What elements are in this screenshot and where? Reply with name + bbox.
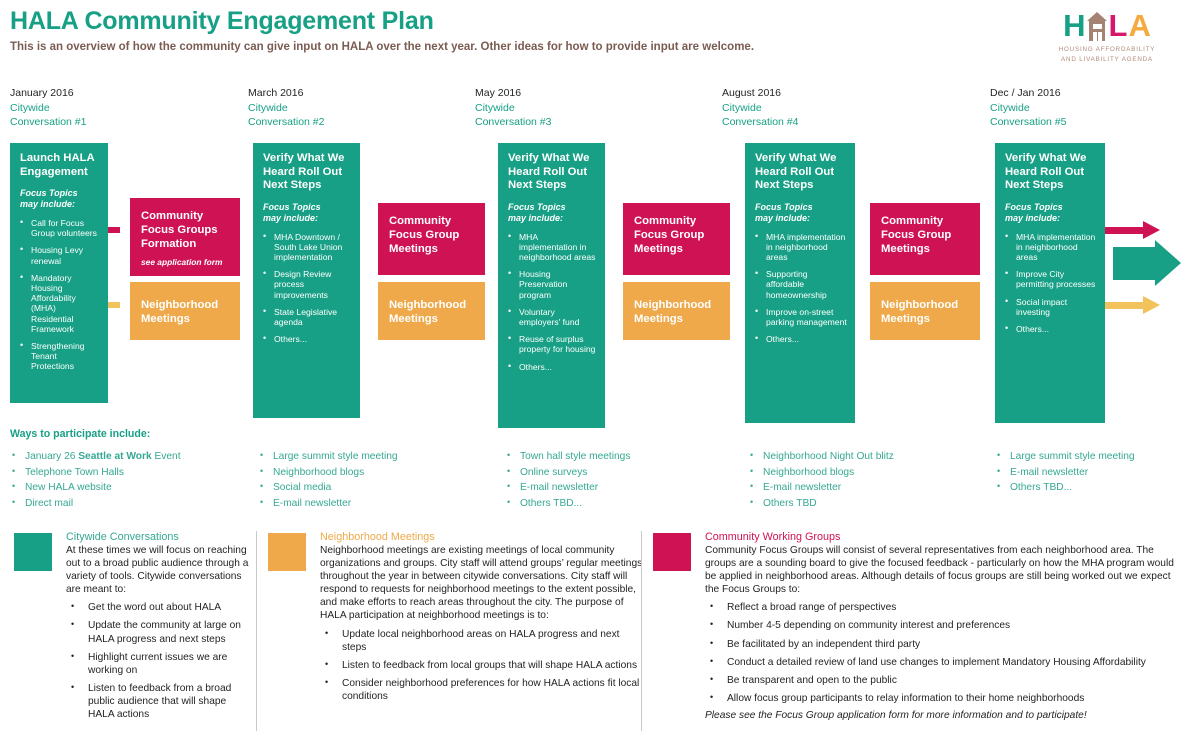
column-month-label: May 2016 bbox=[475, 86, 551, 101]
ways-list-item: E-mail newsletter bbox=[995, 465, 1135, 481]
focus-topics-label-line2: may include: bbox=[755, 213, 847, 224]
logo-letter-l: L bbox=[1109, 10, 1128, 41]
focus-topic-item: Housing Levy renewal bbox=[20, 245, 100, 265]
column-citywide-line2: Conversation #2 bbox=[248, 115, 324, 130]
focus-topic-item: Others... bbox=[263, 334, 352, 344]
focus-topic-item: Reuse of surplus property for housing bbox=[508, 334, 597, 354]
column-header-4: August 2016CitywideConversation #4 bbox=[722, 86, 798, 130]
focus-topics-label: Focus Topicsmay include: bbox=[755, 202, 847, 224]
ways-list-item: Neighborhood blogs bbox=[748, 465, 894, 481]
ways-list-item: New HALA website bbox=[10, 480, 181, 496]
house-icon bbox=[1087, 12, 1108, 41]
focus-topic-item: Others... bbox=[508, 362, 597, 372]
logo-tagline-line2: AND LIVABILITY AGENDA bbox=[1048, 55, 1166, 65]
neighborhood-meetings-card-2[interactable]: Neighborhood Meetings bbox=[378, 282, 485, 340]
logo-tagline-line1: HOUSING AFFORDABILITY bbox=[1048, 45, 1166, 55]
focus-topics-label: Focus Topicsmay include: bbox=[263, 202, 352, 224]
arrow-orange-stem bbox=[1105, 302, 1143, 309]
column-citywide-line2: Conversation #3 bbox=[475, 115, 551, 130]
ways-list: Large summit style meetingNeighborhood b… bbox=[258, 449, 398, 511]
card-title: Community Focus Group Meetings bbox=[389, 214, 476, 256]
legend-paragraph: Neighborhood meetings are existing meeti… bbox=[320, 544, 643, 623]
legend-bullet-item: Highlight current issues we are working … bbox=[66, 651, 254, 677]
card-title: Launch HALA Engagement bbox=[20, 152, 100, 179]
page-title: HALA Community Engagement Plan bbox=[10, 8, 754, 36]
community-focus-group-card-2[interactable]: Community Focus Group Meetings bbox=[378, 203, 485, 275]
focus-topic-item: MHA Downtown / South Lake Union implemen… bbox=[263, 232, 352, 263]
logo-tagline: HOUSING AFFORDABILITY AND LIVABILITY AGE… bbox=[1048, 45, 1166, 64]
card-title: Neighborhood Meetings bbox=[881, 298, 971, 326]
card-title: Neighborhood Meetings bbox=[141, 298, 231, 326]
card-title: Neighborhood Meetings bbox=[634, 298, 721, 326]
legend-body: Neighborhood MeetingsNeighborhood meetin… bbox=[320, 531, 643, 703]
citywide-conversation-card-4[interactable]: Verify What We Heard Roll Out Next Steps… bbox=[745, 143, 855, 423]
ways-list-item: E-mail newsletter bbox=[258, 496, 398, 512]
logo-wordmark: H L A bbox=[1048, 10, 1166, 41]
focus-topics-list: MHA implementation in neighborhood areas… bbox=[508, 232, 597, 372]
focus-topics-label-line1: Focus Topics bbox=[263, 202, 352, 213]
legend-bullet-item: Update local neighborhood areas on HALA … bbox=[320, 628, 643, 654]
legend-bullet-item: Conduct a detailed review of land use ch… bbox=[705, 656, 1178, 669]
focus-topics-label: Focus Topicsmay include: bbox=[20, 188, 100, 210]
legend-bullet-item: Get the word out about HALA bbox=[66, 601, 254, 614]
focus-topics-list: Call for Focus Group volunteersHousing L… bbox=[20, 218, 100, 372]
column-citywide-line2: Conversation #1 bbox=[10, 115, 86, 130]
ways-list: January 26 Seattle at Work EventTelephon… bbox=[10, 449, 181, 511]
focus-topic-item: Improve on-street parking management bbox=[755, 307, 847, 327]
neighborhood-meetings-card-4[interactable]: Neighborhood Meetings bbox=[870, 282, 980, 340]
focus-topic-item: Strengthening Tenant Protections bbox=[20, 341, 100, 372]
neighborhood-meetings-card-1[interactable]: Neighborhood Meetings bbox=[130, 282, 240, 340]
page-header: HALA Community Engagement Plan This is a… bbox=[10, 8, 754, 53]
legend-bullet-item: Be transparent and open to the public bbox=[705, 674, 1178, 687]
legend-bullet-item: Update the community at large on HALA pr… bbox=[66, 619, 254, 645]
connector-pink-1 bbox=[108, 227, 120, 233]
ways-list-item: Others TBD... bbox=[505, 496, 630, 512]
legend-bullet-item: Allow focus group participants to relay … bbox=[705, 692, 1178, 705]
focus-topic-item: Voluntary employers' fund bbox=[508, 307, 597, 327]
focus-topic-item: Mandatory Housing Affordability (MHA) Re… bbox=[20, 273, 100, 334]
column-month-label: Dec / Jan 2016 bbox=[990, 86, 1066, 101]
legend-divider-1 bbox=[256, 531, 257, 731]
legend-body: Citywide ConversationsAt these times we … bbox=[66, 531, 254, 721]
legend-bullet-list: Update local neighborhood areas on HALA … bbox=[320, 628, 643, 703]
legend-item-neighborhood-meetings: Neighborhood MeetingsNeighborhood meetin… bbox=[268, 531, 643, 708]
community-focus-group-card-3[interactable]: Community Focus Group Meetings bbox=[623, 203, 730, 275]
legend-paragraph: At these times we will focus on reaching… bbox=[66, 544, 254, 596]
ways-to-participate-list-4: Neighborhood Night Out blitzNeighborhood… bbox=[748, 449, 894, 511]
focus-topic-item: MHA implementation in neighborhood areas bbox=[755, 232, 847, 263]
focus-topic-item: State Legislative agenda bbox=[263, 307, 352, 327]
community-focus-group-card-4[interactable]: Community Focus Group Meetings bbox=[870, 203, 980, 275]
legend-paragraph: Community Focus Groups will consist of s… bbox=[705, 544, 1178, 596]
ways-to-participate-list-1: January 26 Seattle at Work EventTelephon… bbox=[10, 449, 181, 511]
focus-topic-item: Social impact investing bbox=[1005, 297, 1097, 317]
column-citywide-line2: Conversation #4 bbox=[722, 115, 798, 130]
arrow-orange-head bbox=[1143, 296, 1160, 314]
ways-list-item: Neighborhood blogs bbox=[258, 465, 398, 481]
focus-topics-list: MHA implementation in neighborhood areas… bbox=[1005, 232, 1097, 335]
ways-list-item: Social media bbox=[258, 480, 398, 496]
card-title: Verify What We Heard Roll Out Next Steps bbox=[755, 152, 847, 193]
focus-topics-label-line2: may include: bbox=[508, 213, 597, 224]
legend-footnote: Please see the Focus Group application f… bbox=[705, 710, 1178, 721]
legend-color-swatch bbox=[268, 533, 306, 571]
connector-orange-1 bbox=[108, 302, 120, 308]
focus-topic-item: MHA implementation in neighborhood areas bbox=[1005, 232, 1097, 263]
legend-body: Community Working GroupsCommunity Focus … bbox=[705, 531, 1178, 721]
legend-bullet-item: Consider neighborhood preferences for ho… bbox=[320, 677, 643, 703]
ways-list-item: Town hall style meetings bbox=[505, 449, 630, 465]
focus-topics-label-line1: Focus Topics bbox=[1005, 202, 1097, 213]
ways-list: Large summit style meetingE-mail newslet… bbox=[995, 449, 1135, 496]
page-subtitle: This is an overview of how the community… bbox=[10, 41, 754, 53]
arrow-teal-stem bbox=[1113, 247, 1155, 280]
hala-logo: H L A HOUSING AFFORDABILITY AND LIVABILI… bbox=[1048, 10, 1166, 64]
card-title: Verify What We Heard Roll Out Next Steps bbox=[1005, 152, 1097, 193]
column-citywide-line1: Citywide bbox=[722, 101, 798, 116]
arrow-pink-stem bbox=[1105, 227, 1143, 234]
focus-topics-label-line2: may include: bbox=[263, 213, 352, 224]
legend-divider-2 bbox=[641, 531, 642, 731]
legend-bullet-item: Listen to feedback from local groups tha… bbox=[320, 659, 643, 672]
focus-topics-label-line1: Focus Topics bbox=[755, 202, 847, 213]
card-title: Community Focus Group Meetings bbox=[881, 214, 971, 256]
ways-list-item: E-mail newsletter bbox=[505, 480, 630, 496]
card-note: see application form bbox=[141, 257, 231, 267]
column-month-label: August 2016 bbox=[722, 86, 798, 101]
legend-bullet-item: Number 4-5 depending on community intere… bbox=[705, 619, 1178, 632]
legend-bullet-list: Get the word out about HALAUpdate the co… bbox=[66, 601, 254, 721]
ways-list-item: Others TBD bbox=[748, 496, 894, 512]
ways-list-item: E-mail newsletter bbox=[748, 480, 894, 496]
focus-topic-item: Others... bbox=[755, 334, 847, 344]
focus-topics-label: Focus Topicsmay include: bbox=[1005, 202, 1097, 224]
focus-topic-item: Call for Focus Group volunteers bbox=[20, 218, 100, 238]
focus-topic-item: Design Review process improvements bbox=[263, 269, 352, 300]
logo-letter-h: H bbox=[1063, 10, 1085, 41]
engagement-timeline: January 2016CitywideConversation #1March… bbox=[0, 86, 1184, 426]
focus-topic-item: Improve City permitting processes bbox=[1005, 269, 1097, 289]
citywide-conversation-card-1[interactable]: Launch HALA EngagementFocus Topicsmay in… bbox=[10, 143, 108, 403]
column-month-label: March 2016 bbox=[248, 86, 324, 101]
focus-topics-label-line1: Focus Topics bbox=[508, 202, 597, 213]
focus-topic-item: Others... bbox=[1005, 324, 1097, 334]
column-citywide-line1: Citywide bbox=[990, 101, 1066, 116]
ways-to-participate-list-5: Large summit style meetingE-mail newslet… bbox=[995, 449, 1135, 496]
legend-bullet-item: Reflect a broad range of perspectives bbox=[705, 601, 1178, 614]
ways-list-item: Telephone Town Halls bbox=[10, 465, 181, 481]
column-header-1: January 2016CitywideConversation #1 bbox=[10, 86, 86, 130]
ways-list-item: Neighborhood Night Out blitz bbox=[748, 449, 894, 465]
legend-heading: Neighborhood Meetings bbox=[320, 531, 643, 544]
column-citywide-line2: Conversation #5 bbox=[990, 115, 1066, 130]
legend-bullet-list: Reflect a broad range of perspectivesNum… bbox=[705, 601, 1178, 705]
ways-list-item-emphasis: Seattle at Work bbox=[78, 451, 151, 462]
column-citywide-line1: Citywide bbox=[475, 101, 551, 116]
arrow-pink-head bbox=[1143, 221, 1160, 239]
focus-topics-label-line1: Focus Topics bbox=[20, 188, 100, 199]
column-month-label: January 2016 bbox=[10, 86, 86, 101]
focus-topics-label-line2: may include: bbox=[1005, 213, 1097, 224]
focus-topics-list: MHA implementation in neighborhood areas… bbox=[755, 232, 847, 345]
focus-topics-label-line2: may include: bbox=[20, 199, 100, 210]
card-title: Verify What We Heard Roll Out Next Steps bbox=[508, 152, 597, 193]
legend-heading: Community Working Groups bbox=[705, 531, 1178, 544]
ways-list-item: Online surveys bbox=[505, 465, 630, 481]
ways-list-item: Large summit style meeting bbox=[258, 449, 398, 465]
ways-to-participate-title: Ways to participate include: bbox=[10, 428, 150, 440]
focus-topic-item: Supporting affordable homeownership bbox=[755, 269, 847, 300]
community-focus-group-card-1[interactable]: Community Focus Groups Formationsee appl… bbox=[130, 198, 240, 276]
focus-topics-label: Focus Topicsmay include: bbox=[508, 202, 597, 224]
citywide-conversation-card-2[interactable]: Verify What We Heard Roll Out Next Steps… bbox=[253, 143, 360, 418]
focus-topics-list: MHA Downtown / South Lake Union implemen… bbox=[263, 232, 352, 345]
legend-heading: Citywide Conversations bbox=[66, 531, 254, 544]
logo-letter-a: A bbox=[1128, 10, 1150, 41]
legend-color-swatch bbox=[653, 533, 691, 571]
column-header-5: Dec / Jan 2016CitywideConversation #5 bbox=[990, 86, 1066, 130]
citywide-conversation-card-5[interactable]: Verify What We Heard Roll Out Next Steps… bbox=[995, 143, 1105, 423]
legend-item-community-working-groups: Community Working GroupsCommunity Focus … bbox=[653, 531, 1178, 721]
legend-bullet-item: Be facilitated by an independent third p… bbox=[705, 638, 1178, 651]
ways-to-participate-list-3: Town hall style meetingsOnline surveysE-… bbox=[505, 449, 630, 511]
legend-color-swatch bbox=[14, 533, 52, 571]
citywide-conversation-card-3[interactable]: Verify What We Heard Roll Out Next Steps… bbox=[498, 143, 605, 428]
column-citywide-line1: Citywide bbox=[248, 101, 324, 116]
ways-list: Town hall style meetingsOnline surveysE-… bbox=[505, 449, 630, 511]
arrow-teal-head bbox=[1155, 240, 1181, 286]
card-title: Community Focus Group Meetings bbox=[634, 214, 721, 256]
focus-topic-item: Housing Preservation program bbox=[508, 269, 597, 300]
card-title: Verify What We Heard Roll Out Next Steps bbox=[263, 152, 352, 193]
ways-list-item: Large summit style meeting bbox=[995, 449, 1135, 465]
neighborhood-meetings-card-3[interactable]: Neighborhood Meetings bbox=[623, 282, 730, 340]
ways-list-item: January 26 Seattle at Work Event bbox=[10, 449, 181, 465]
card-title: Community Focus Groups Formation bbox=[141, 209, 231, 251]
column-header-3: May 2016CitywideConversation #3 bbox=[475, 86, 551, 130]
ways-list: Neighborhood Night Out blitzNeighborhood… bbox=[748, 449, 894, 511]
ways-list-item: Direct mail bbox=[10, 496, 181, 512]
legend-bullet-item: Listen to feedback from a broad public a… bbox=[66, 682, 254, 721]
legend-item-citywide-conversations: Citywide ConversationsAt these times we … bbox=[14, 531, 254, 726]
column-header-2: March 2016CitywideConversation #2 bbox=[248, 86, 324, 130]
focus-topic-item: MHA implementation in neighborhood areas bbox=[508, 232, 597, 263]
column-citywide-line1: Citywide bbox=[10, 101, 86, 116]
ways-list-item: Others TBD... bbox=[995, 480, 1135, 496]
ways-to-participate-list-2: Large summit style meetingNeighborhood b… bbox=[258, 449, 398, 511]
card-title: Neighborhood Meetings bbox=[389, 298, 476, 326]
